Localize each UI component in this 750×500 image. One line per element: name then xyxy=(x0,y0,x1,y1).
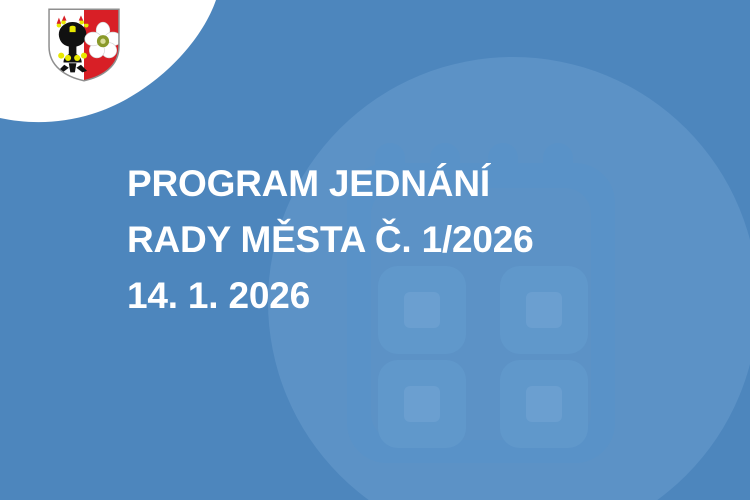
calendar-cell-4 xyxy=(500,360,588,448)
calendar-cell-dot xyxy=(404,386,440,422)
page-title: PROGRAM JEDNÁNÍ RADY MĚSTA Č. 1/2026 14.… xyxy=(127,156,727,324)
calendar-cell-dot xyxy=(526,386,562,422)
headline-line-3: 14. 1. 2026 xyxy=(127,268,727,324)
announcement-banner: PROGRAM JEDNÁNÍ RADY MĚSTA Č. 1/2026 14.… xyxy=(0,0,750,500)
coat-of-arms-icon xyxy=(46,7,122,83)
calendar-cell-3 xyxy=(378,360,466,448)
headline-line-1: PROGRAM JEDNÁNÍ xyxy=(127,156,727,212)
headline-line-2: RADY MĚSTA Č. 1/2026 xyxy=(127,212,727,268)
